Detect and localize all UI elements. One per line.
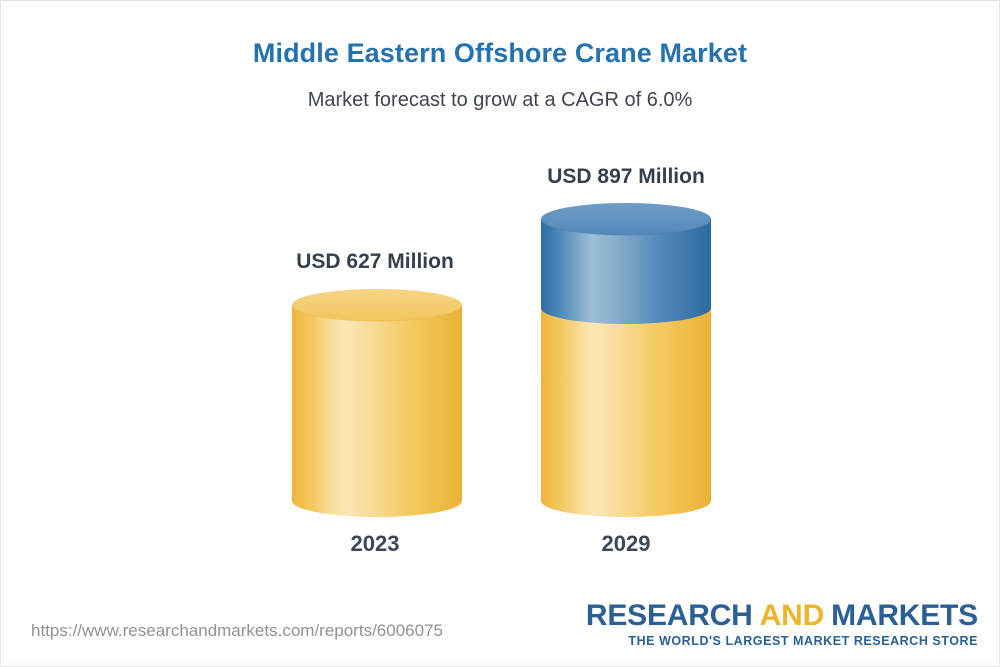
bar-value-label-2023: USD 627 Million [215,250,535,274]
report-url[interactable]: https://www.researchandmarkets.com/repor… [31,621,443,641]
bar-cylinder-2023 [292,289,462,519]
bar-cylinder-2029-growth [541,203,711,325]
brand-logo-part-and: AND [760,599,824,632]
brand-logo-part-research: RESEARCH [586,599,753,632]
bar-value-label-2029: USD 897 Million [466,165,786,189]
page-title: Middle Eastern Offshore Crane Market [0,38,1000,69]
chart-subtitle: Market forecast to grow at a CAGR of 6.0… [0,89,1000,112]
brand-logo: RESEARCHANDMARKETS THE WORLD'S LARGEST M… [586,600,978,648]
brand-logo-part-markets: MARKETS [831,599,978,632]
brand-logo-tagline: THE WORLD'S LARGEST MARKET RESEARCH STOR… [586,634,978,648]
bar-cylinder-2029-base [541,292,711,519]
brand-logo-wordmark: RESEARCHANDMARKETS [586,600,978,632]
chart-canvas: Middle Eastern Offshore Crane Market Mar… [0,0,1000,667]
category-label-2029: 2029 [466,531,786,557]
